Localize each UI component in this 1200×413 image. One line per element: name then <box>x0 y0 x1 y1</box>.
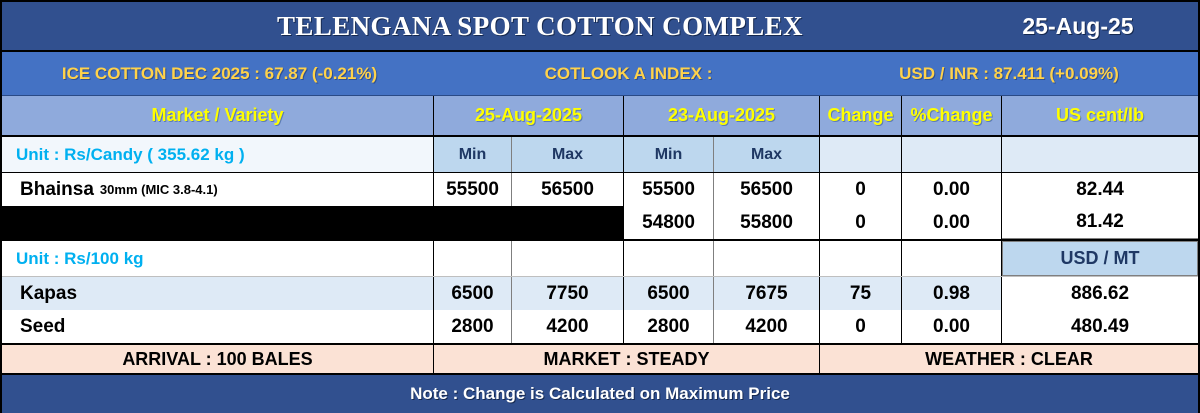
cell-change: 75 <box>820 277 902 310</box>
cell-min-date1: 6500 <box>434 277 512 310</box>
cell-max-date2: 56500 <box>714 173 820 206</box>
cell-change: 0 <box>820 206 902 239</box>
cell-min-date1: 55500 <box>434 173 512 206</box>
col-header-date2: 23-Aug-2025 <box>624 96 820 135</box>
unit-label-candy: Unit : Rs/Candy ( 355.62 kg ) <box>2 137 434 172</box>
cell-us-cent-lb: 81.42 <box>1002 206 1198 239</box>
cell-pct-change: 0.00 <box>902 310 1002 343</box>
unit2-blank-min1 <box>434 241 512 276</box>
ticker-row: ICE COTTON DEC 2025 : 67.87 (-0.21%) COT… <box>2 52 1198 96</box>
cell-usd-mt: 480.49 <box>1002 310 1198 343</box>
cell-pct-change: 0.00 <box>902 206 1002 239</box>
cell-min-date2: 55500 <box>624 173 714 206</box>
cell-max-date1: 7750 <box>512 277 624 310</box>
table-grid: Market / Variety 25-Aug-2025 23-Aug-2025… <box>2 96 1198 343</box>
unit-per-100kg-row: Unit : Rs/100 kg USD / MT <box>2 239 1198 277</box>
row-label-kapas: Kapas <box>2 277 434 310</box>
col-header-market: Market / Variety <box>2 96 434 135</box>
cell-min-date2: 54800 <box>624 206 714 239</box>
subhead-us-cent-blank <box>1002 137 1198 172</box>
report-date: 25-Aug-25 <box>958 13 1198 40</box>
cell-max-date1: 56500 <box>512 173 624 206</box>
unit2-blank-max2 <box>714 241 820 276</box>
cell-change: 0 <box>820 310 902 343</box>
cotton-price-table: TELENGANA SPOT COTTON COMPLEX 25-Aug-25 … <box>0 0 1200 413</box>
cell-usd-mt: 886.62 <box>1002 277 1198 310</box>
status-arrival: ARRIVAL : 100 BALES <box>2 345 434 373</box>
row-spec-text: 30mm (MIC 3.8-4.1) <box>100 182 218 197</box>
row-label-seed: Seed <box>2 310 434 343</box>
unit2-blank-min2 <box>624 241 714 276</box>
subhead-min-date2: Min <box>624 137 714 172</box>
cell-min-date2: 6500 <box>624 277 714 310</box>
unit2-blank-change <box>820 241 902 276</box>
subhead-max-date1: Max <box>512 137 624 172</box>
note-row: Note : Change is Calculated on Maximum P… <box>2 375 1198 413</box>
cell-max-date2: 4200 <box>714 310 820 343</box>
row-name-text: Kapas <box>20 283 77 305</box>
cell-max-date1: 4200 <box>512 310 624 343</box>
subhead-min-date1: Min <box>434 137 512 172</box>
subhead-max-date2: Max <box>714 137 820 172</box>
title-row: TELENGANA SPOT COTTON COMPLEX 25-Aug-25 <box>2 2 1198 52</box>
cell-pct-change: 0.00 <box>902 173 1002 206</box>
col-header-pct-change: %Change <box>902 96 1002 135</box>
unit-label-per-100kg: Unit : Rs/100 kg <box>2 241 434 276</box>
row-label-redacted <box>2 206 434 239</box>
cell-min-date1-redacted <box>434 206 512 239</box>
status-market: MARKET : STEADY <box>434 345 820 373</box>
table-row: 54800 55800 0 0.00 81.42 <box>2 206 1198 239</box>
cell-min-date2: 2800 <box>624 310 714 343</box>
cell-max-date2: 7675 <box>714 277 820 310</box>
table-row: Kapas 6500 7750 6500 7675 75 0.98 886.62 <box>2 277 1198 310</box>
status-weather: WEATHER : CLEAR <box>820 345 1198 373</box>
table-row: Seed 2800 4200 2800 4200 0 0.00 480.49 <box>2 310 1198 343</box>
cell-min-date1: 2800 <box>434 310 512 343</box>
subhead-pct-change-blank <box>902 137 1002 172</box>
unit2-blank-max1 <box>512 241 624 276</box>
cell-max-date1-redacted <box>512 206 624 239</box>
subhead-usd-mt: USD / MT <box>1002 241 1198 276</box>
table-row: Bhainsa 30mm (MIC 3.8-4.1) 55500 56500 5… <box>2 173 1198 206</box>
note-text: Note : Change is Calculated on Maximum P… <box>410 384 790 404</box>
cell-change: 0 <box>820 173 902 206</box>
cell-us-cent-lb: 82.44 <box>1002 173 1198 206</box>
ticker-cotlook-index: COTLOOK A INDEX : <box>437 64 820 84</box>
table-header-row: Market / Variety 25-Aug-2025 23-Aug-2025… <box>2 96 1198 137</box>
cell-max-date2: 55800 <box>714 206 820 239</box>
subhead-change-blank <box>820 137 902 172</box>
unit-candy-row: Unit : Rs/Candy ( 355.62 kg ) Min Max Mi… <box>2 137 1198 173</box>
ticker-ice-cotton: ICE COTTON DEC 2025 : 67.87 (-0.21%) <box>2 64 437 84</box>
unit2-blank-pct-change <box>902 241 1002 276</box>
col-header-date1: 25-Aug-2025 <box>434 96 624 135</box>
col-header-change: Change <box>820 96 902 135</box>
cell-pct-change: 0.98 <box>902 277 1002 310</box>
status-row: ARRIVAL : 100 BALES MARKET : STEADY WEAT… <box>2 343 1198 375</box>
row-name-text: Seed <box>20 316 65 338</box>
row-name-text: Bhainsa <box>20 179 94 201</box>
col-header-us-cent-lb: US cent/lb <box>1002 96 1198 135</box>
ticker-usd-inr: USD / INR : 87.411 (+0.09%) <box>820 64 1198 84</box>
page-title: TELENGANA SPOT COTTON COMPLEX <box>2 11 958 42</box>
row-label-bhainsa: Bhainsa 30mm (MIC 3.8-4.1) <box>2 173 434 206</box>
